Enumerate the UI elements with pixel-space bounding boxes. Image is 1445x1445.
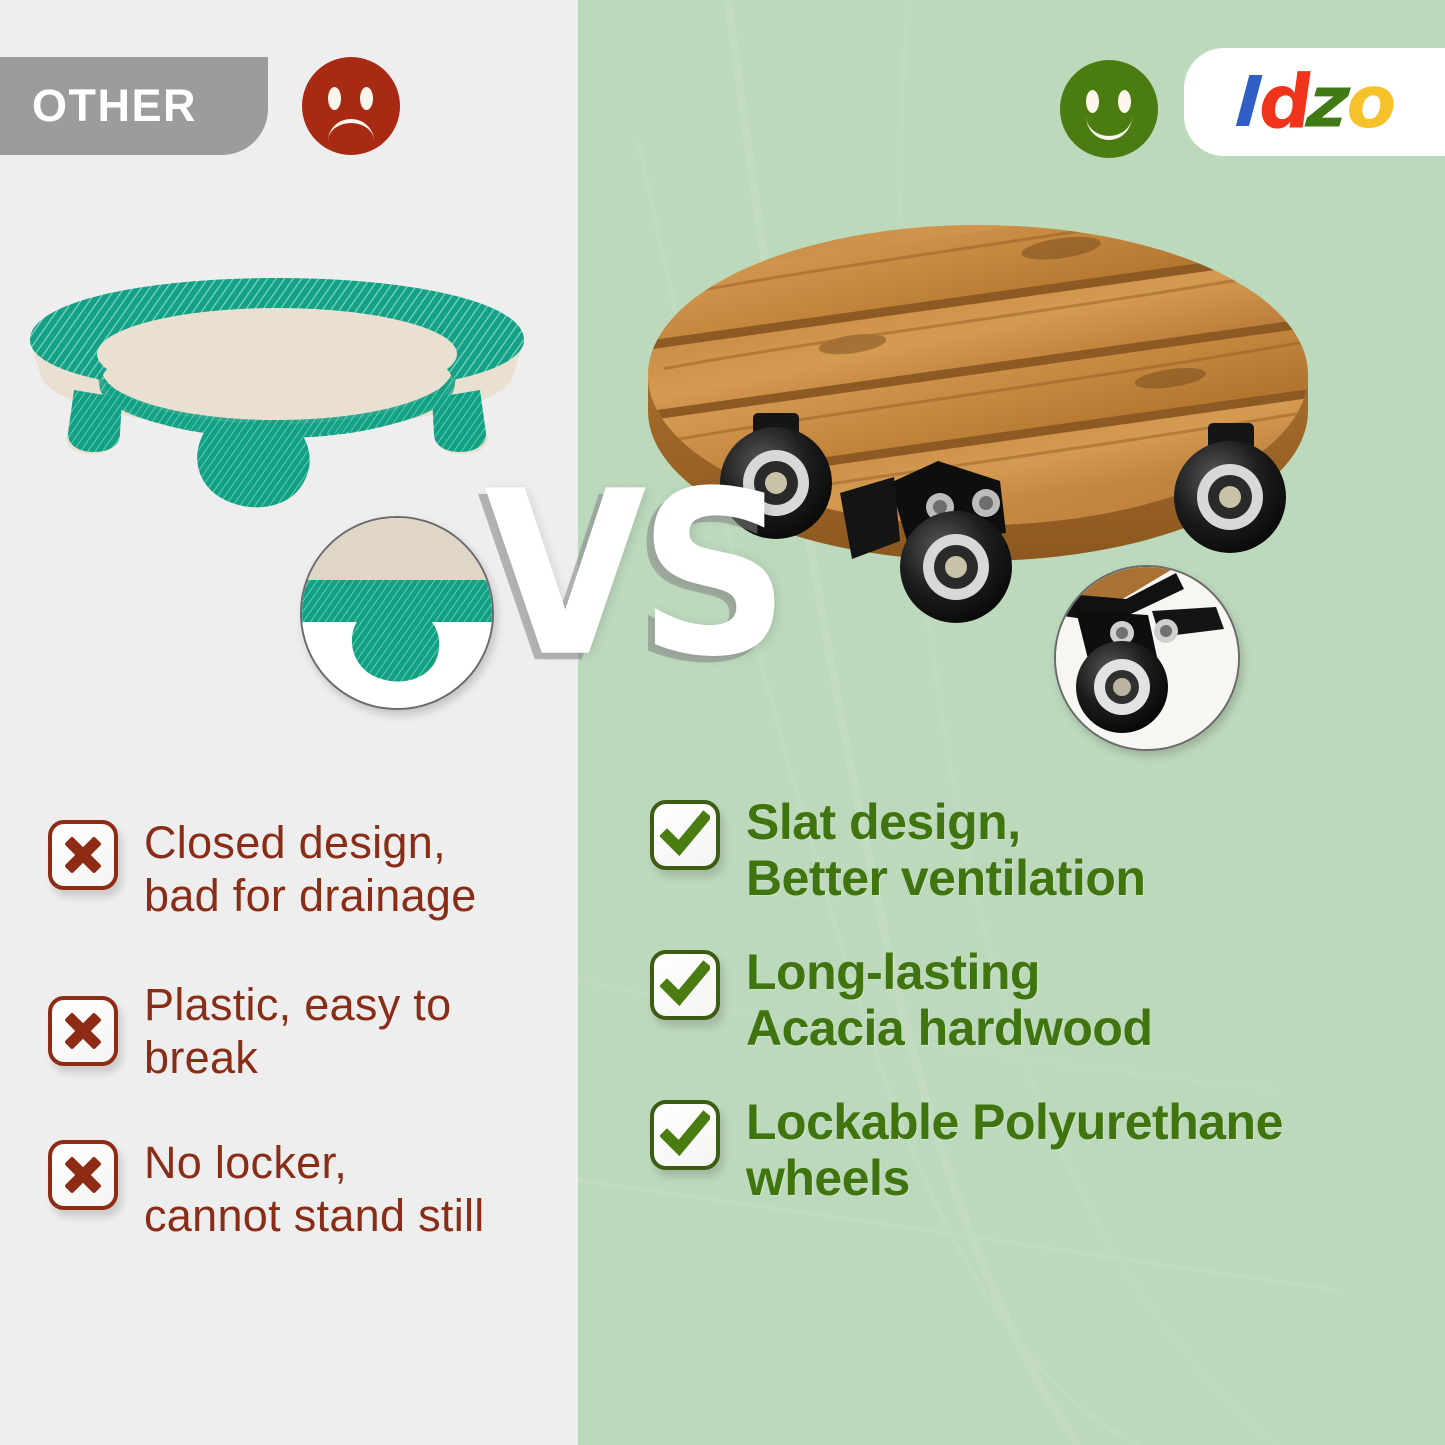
other-label-text: OTHER [32,80,197,132]
comparison-infographic: OTHER [0,0,1445,1445]
list-item-text: Lockable Polyurethane wheels [746,1094,1283,1206]
list-item-line2: wheels [746,1150,1283,1206]
logo-letter-o: o [1345,66,1395,139]
happy-face-eye-right [1118,90,1131,113]
list-item-line2: Acacia hardwood [746,1000,1153,1056]
other-product-image [22,262,532,522]
sad-face-eye-right [360,87,373,110]
list-item-line1: Lockable Polyurethane [746,1094,1283,1150]
brand-logo-text: Idzo [1236,67,1393,137]
other-product-caster-inset [300,516,494,710]
list-item-line1: Closed design, [144,817,446,868]
list-item: Long-lasting Acacia hardwood [650,950,1410,1056]
list-item-text: Long-lasting Acacia hardwood [746,944,1153,1056]
list-item-line2: Better ventilation [746,850,1145,906]
list-item-text: Slat design, Better ventilation [746,794,1145,906]
sad-face-icon [302,57,400,155]
sad-face-mouth [328,119,374,141]
x-mark-icon [48,1140,118,1210]
list-item-line1: Slat design, [746,794,1021,850]
check-mark-icon [650,950,720,1020]
x-mark-icon [48,996,118,1066]
cons-list: Closed design, bad for drainage Plastic,… [48,820,578,1299]
x-mark-icon [48,820,118,890]
logo-letter-d: d [1257,65,1312,139]
list-item: Plastic, easy to break [48,978,578,1084]
list-item: Slat design, Better ventilation [650,800,1410,906]
happy-face-icon [1060,60,1158,158]
list-item-line2: bad for drainage [144,869,477,922]
pros-list: Slat design, Better ventilation Long-las… [650,800,1410,1250]
sad-face-eye-left [328,87,341,110]
list-item-line1: No locker, [144,1137,347,1188]
list-item-line1: Long-lasting [746,944,1040,1000]
idzo-caster-lock-inset [1054,565,1240,751]
list-item: No locker, cannot stand still [48,1140,578,1242]
brand-logo: Idzo [1184,48,1445,156]
list-item: Closed design, bad for drainage [48,820,578,922]
list-item-line2: cannot stand still [144,1189,485,1242]
check-mark-icon [650,800,720,870]
right-panel-idzo: Idzo [578,0,1445,1445]
check-mark-icon [650,1100,720,1170]
list-item: Lockable Polyurethane wheels [650,1100,1410,1206]
other-label-tag: OTHER [0,57,268,155]
happy-face-eye-left [1086,90,1099,113]
list-item-text: Plastic, easy to break [144,978,578,1084]
list-item-text: Closed design, bad for drainage [144,816,477,922]
happy-face-mouth [1086,116,1132,140]
list-item-line1: Plastic, easy to break [144,979,451,1083]
list-item-text: No locker, cannot stand still [144,1136,485,1242]
logo-letter-z: z [1304,66,1351,137]
left-panel-other: OTHER [0,0,578,1445]
vs-badge: VS [484,462,782,689]
